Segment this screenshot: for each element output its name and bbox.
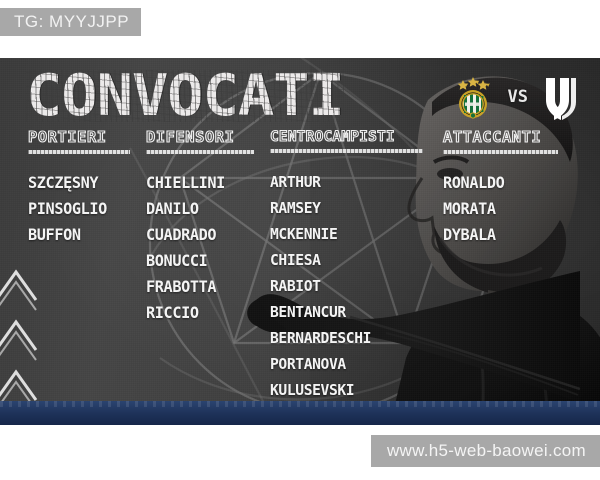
player-list-goalkeepers: SZCZĘSNY PINSOGLIO BUFFON: [28, 170, 140, 248]
match-badges: VS: [450, 74, 582, 120]
page-title-text: CONVOCATI: [26, 63, 344, 129]
player-name: DANILO: [146, 196, 260, 222]
player-name: CUADRADO: [146, 222, 260, 248]
column-header-difensori: DIFENSORI: [146, 130, 268, 145]
column-header-attaccanti: ATTACCANTI: [443, 130, 565, 145]
player-name: MORATA: [443, 196, 557, 222]
top-watermark: TG: MYYJJPP: [0, 8, 141, 36]
player-name: CHIELLINI: [146, 170, 260, 196]
column-rule: [146, 150, 254, 154]
player-name: CHIESA: [270, 247, 430, 273]
squad-columns: PORTIERI SZCZĘSNY PINSOGLIO BUFFON DIFEN…: [0, 130, 600, 425]
bottom-watermark-text: www.h5-web-baowei.com: [387, 441, 586, 460]
top-watermark-text: TG: MYYJJPP: [14, 12, 129, 31]
player-name: RONALDO: [443, 170, 557, 196]
column-goalkeepers: PORTIERI SZCZĘSNY PINSOGLIO BUFFON: [28, 130, 140, 248]
column-forwards: ATTACCANTI RONALDO MORATA DYBALA: [443, 130, 563, 248]
player-name: PORTANOVA: [270, 351, 430, 377]
player-name: MCKENNIE: [270, 221, 430, 247]
player-name: RAMSEY: [270, 195, 430, 221]
column-rule: [270, 149, 423, 153]
player-name: ARTHUR: [270, 169, 430, 195]
column-midfielders: CENTROCAMPISTI ARTHUR RAMSEY MCKENNIE CH…: [270, 130, 438, 403]
column-header-centrocampisti: CENTROCAMPISTI: [270, 130, 441, 144]
player-name: KULUSEVSKI: [270, 377, 430, 403]
column-header-portieri: PORTIERI: [28, 130, 142, 145]
player-name: RICCIO: [146, 300, 260, 326]
versus-label: VS: [508, 87, 528, 107]
player-name: PINSOGLIO: [28, 196, 134, 222]
player-name: BERNARDESCHI: [270, 325, 430, 351]
column-rule: [28, 150, 130, 154]
page-title: CONVOCATI: [26, 70, 344, 122]
player-name: BONUCCI: [146, 248, 260, 274]
player-list-defenders: CHIELLINI DANILO CUADRADO BONUCCI FRABOT…: [146, 170, 266, 326]
player-list-forwards: RONALDO MORATA DYBALA: [443, 170, 563, 248]
juventus-logo-icon: [540, 74, 582, 120]
player-list-midfielders: ARTHUR RAMSEY MCKENNIE CHIESA RABIOT BEN…: [270, 169, 438, 403]
player-name: FRABOTTA: [146, 274, 260, 300]
player-name: BUFFON: [28, 222, 134, 248]
ferencvaros-crest-icon: [450, 74, 496, 120]
bottom-watermark: www.h5-web-baowei.com: [371, 435, 600, 467]
column-rule: [443, 150, 558, 154]
column-defenders: DIFENSORI CHIELLINI DANILO CUADRADO BONU…: [146, 130, 266, 326]
convocati-graphic: CONVOCATI: [0, 58, 600, 425]
player-name: BENTANCUR: [270, 299, 430, 325]
player-name: RABIOT: [270, 273, 430, 299]
player-name: DYBALA: [443, 222, 557, 248]
player-name: SZCZĘSNY: [28, 170, 134, 196]
